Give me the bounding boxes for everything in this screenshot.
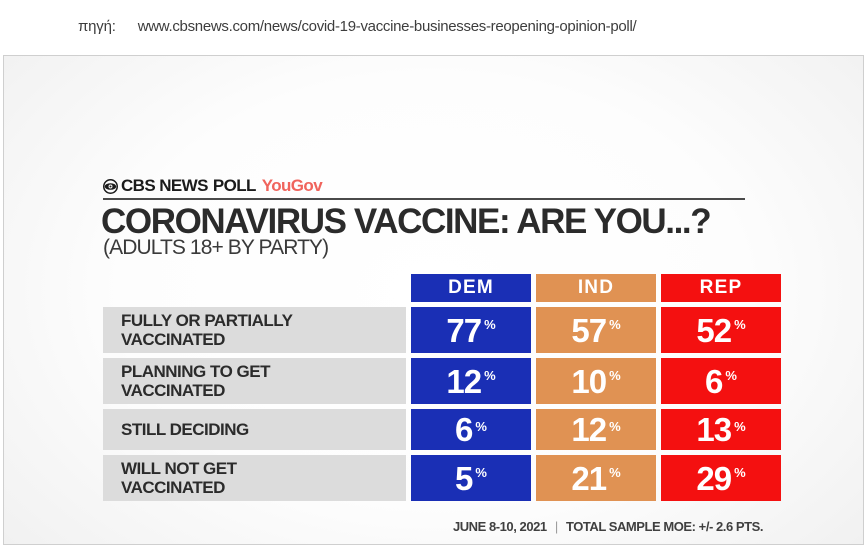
- percent-sign: %: [609, 317, 621, 332]
- cell-rep: 52 %: [661, 307, 781, 353]
- cell-value: 13: [696, 413, 731, 446]
- cell-value: 21: [571, 462, 606, 495]
- table-row: WILL NOT GET VACCINATED 5 % 21 % 29 %: [103, 455, 775, 501]
- cell-ind: 12 %: [536, 409, 656, 450]
- row-label: PLANNING TO GET VACCINATED: [103, 358, 406, 404]
- cell-ind: 57 %: [536, 307, 656, 353]
- cell-rep: 29 %: [661, 455, 781, 501]
- cell-value: 12: [571, 413, 606, 446]
- row-label: WILL NOT GET VACCINATED: [103, 455, 406, 501]
- brand-network-label: CBS NEWS: [121, 176, 208, 196]
- row-label: FULLY OR PARTIALLY VACCINATED: [103, 307, 406, 353]
- row-label: STILL DECIDING: [103, 409, 406, 450]
- percent-sign: %: [725, 368, 737, 383]
- row-label-line1: PLANNING TO GET: [121, 362, 406, 381]
- percent-sign: %: [609, 465, 621, 480]
- cell-rep: 6 %: [661, 358, 781, 404]
- row-label-line1: FULLY OR PARTIALLY: [121, 311, 406, 330]
- cbs-eye-icon: [103, 179, 118, 194]
- cell-rep: 13 %: [661, 409, 781, 450]
- poll-footnote: JUNE 8-10, 2021 | TOTAL SAMPLE MOE: +/- …: [453, 519, 763, 534]
- poll-dates: JUNE 8-10, 2021: [453, 519, 547, 534]
- brand-row: CBS NEWS POLL YouGov: [103, 177, 322, 195]
- percent-sign: %: [609, 368, 621, 383]
- source-caption: πηγή: www.cbsnews.com/news/covid-19-vacc…: [0, 0, 867, 52]
- footnote-separator: |: [555, 519, 558, 534]
- row-label-line2: VACCINATED: [121, 478, 406, 497]
- brand-poll-label: POLL: [213, 176, 256, 196]
- percent-sign: %: [734, 419, 746, 434]
- percent-sign: %: [734, 317, 746, 332]
- percent-sign: %: [484, 368, 496, 383]
- cell-value: 12: [446, 365, 481, 398]
- table-row: STILL DECIDING 6 % 12 % 13 %: [103, 409, 775, 450]
- cell-ind: 21 %: [536, 455, 656, 501]
- poll-graphic: CBS NEWS POLL YouGov CORONAVIRUS VACCINE…: [3, 55, 864, 545]
- row-label-line2: VACCINATED: [121, 330, 406, 349]
- cell-value: 77: [446, 314, 481, 347]
- cell-value: 10: [571, 365, 606, 398]
- poll-margin-of-error: TOTAL SAMPLE MOE: +/- 2.6 PTS.: [566, 519, 763, 534]
- percent-sign: %: [609, 419, 621, 434]
- cell-dem: 77 %: [411, 307, 531, 353]
- source-label: πηγή:: [78, 18, 116, 35]
- page-subtitle: (ADULTS 18+ BY PARTY): [103, 236, 328, 260]
- table-row: PLANNING TO GET VACCINATED 12 % 10 % 6 %: [103, 358, 775, 404]
- table-header-spacer: [103, 274, 406, 302]
- column-header-ind: IND: [536, 274, 656, 302]
- cell-value: 6: [455, 413, 472, 446]
- percent-sign: %: [484, 317, 496, 332]
- row-label-line1: WILL NOT GET: [121, 459, 406, 478]
- cell-dem: 12 %: [411, 358, 531, 404]
- table-header-row: DEM IND REP: [103, 274, 775, 302]
- brand-partner-label: YouGov: [262, 176, 322, 196]
- column-header-dem: DEM: [411, 274, 531, 302]
- cell-value: 57: [571, 314, 606, 347]
- table-row: FULLY OR PARTIALLY VACCINATED 77 % 57 % …: [103, 307, 775, 353]
- cell-value: 5: [455, 462, 472, 495]
- cell-value: 6: [705, 365, 722, 398]
- cell-dem: 6 %: [411, 409, 531, 450]
- graphic-content: CBS NEWS POLL YouGov CORONAVIRUS VACCINE…: [4, 56, 863, 544]
- cell-ind: 10 %: [536, 358, 656, 404]
- source-url[interactable]: www.cbsnews.com/news/covid-19-vaccine-bu…: [138, 18, 637, 35]
- row-label-line1: STILL DECIDING: [121, 420, 406, 439]
- column-header-rep: REP: [661, 274, 781, 302]
- poll-results-table: DEM IND REP FULLY OR PARTIALLY VACCINATE…: [103, 274, 775, 506]
- cell-value: 52: [696, 314, 731, 347]
- percent-sign: %: [475, 419, 487, 434]
- row-label-line2: VACCINATED: [121, 381, 406, 400]
- cell-dem: 5 %: [411, 455, 531, 501]
- cell-value: 29: [696, 462, 731, 495]
- percent-sign: %: [734, 465, 746, 480]
- percent-sign: %: [475, 465, 487, 480]
- brand-divider: [103, 198, 745, 200]
